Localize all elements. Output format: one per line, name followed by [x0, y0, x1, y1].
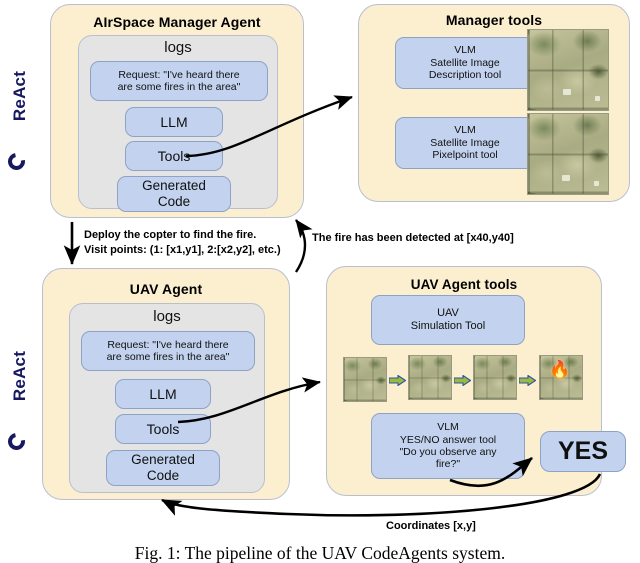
fire-icon: 🔥	[549, 361, 570, 378]
manager-llm-node[interactable]: LLM	[125, 107, 223, 137]
manager-satellite-thumbnail-1	[527, 29, 609, 111]
vlm-description-line-3: Description tool	[429, 69, 501, 81]
deploy-annotation-line-1: Deploy the copter to find the fire.	[84, 229, 256, 241]
manager-tools-panel: Manager tools VLM Satellite Image Descri…	[358, 4, 630, 202]
react-label-uav: ReAct	[2, 340, 36, 450]
vlm-pixelpoint-line-2: Satellite Image	[430, 137, 499, 149]
uav-frame-4: 🔥	[539, 355, 583, 400]
figure-caption: Fig. 1: The pipeline of the UAV CodeAgen…	[0, 543, 640, 563]
manager-tools-title: Manager tools	[359, 12, 629, 28]
vlm-description-line-2: Satellite Image	[430, 57, 499, 69]
coordinates-annotation: Coordinates [x,y]	[386, 519, 476, 534]
deploy-annotation: Deploy the copter to find the fire. Visi…	[84, 228, 281, 258]
manager-generated-code-node[interactable]: Generated Code	[117, 176, 231, 212]
vlm-yesno-line-4: fire?"	[436, 458, 460, 470]
react-ring-icon	[5, 150, 29, 174]
uav-frame-3	[473, 355, 517, 400]
manager-logs-box: logs Request: "I've heard there are some…	[78, 35, 278, 209]
uav-logs-title: logs	[70, 308, 264, 325]
uav-simulation-tool-node[interactable]: UAV Simulation Tool	[371, 295, 525, 345]
sequence-arrow-2	[454, 375, 471, 386]
uav-tools-label: Tools	[147, 421, 180, 438]
yes-answer-label: YES	[558, 437, 608, 467]
manager-request-node[interactable]: Request: "I've heard there are some fire…	[90, 61, 268, 101]
manager-tools-node[interactable]: Tools	[125, 141, 223, 171]
react-label-text: ReAct	[10, 336, 30, 416]
airspace-manager-agent-panel: AIrSpace Manager Agent logs Request: "I'…	[50, 4, 304, 218]
uav-agent-panel: UAV Agent logs Request: "I've heard ther…	[42, 268, 290, 500]
uav-simulation-frame-sequence: 🔥	[343, 355, 587, 405]
sequence-arrow-3	[519, 375, 536, 386]
uav-llm-label: LLM	[149, 386, 176, 403]
uav-generated-line-2: Code	[147, 468, 179, 484]
react-label-text: ReAct	[10, 56, 30, 136]
uav-tools-node[interactable]: Tools	[115, 414, 211, 444]
react-ring-icon	[5, 430, 29, 454]
uav-request-line-2: are some fires in the area"	[107, 351, 230, 363]
sequence-arrow-1	[389, 375, 406, 386]
wire-uav-to-manager-detected	[296, 220, 305, 272]
vlm-description-line-1: VLM	[454, 44, 476, 56]
uav-request-node[interactable]: Request: "I've heard there are some fire…	[81, 331, 255, 371]
uav-agent-title: UAV Agent	[43, 281, 289, 297]
vlm-pixelpoint-line-1: VLM	[454, 124, 476, 136]
manager-generated-line-1: Generated	[142, 178, 206, 194]
coordinates-text: Coordinates [x,y]	[386, 520, 476, 532]
vlm-yesno-line-2: YES/NO answer tool	[400, 434, 496, 446]
deploy-annotation-line-2: Visit points: (1: [x1,y1], 2:[x2,y2], et…	[84, 244, 281, 256]
uav-logs-box: logs Request: "I've heard there are some…	[69, 303, 265, 493]
manager-llm-label: LLM	[160, 114, 187, 131]
uav-agent-tools-title: UAV Agent tools	[327, 277, 601, 292]
manager-generated-line-2: Code	[158, 194, 190, 210]
airspace-manager-agent-title: AIrSpace Manager Agent	[51, 14, 303, 30]
vlm-satellite-description-tool[interactable]: VLM Satellite Image Description tool	[395, 37, 535, 89]
vlm-satellite-pixelpoint-tool[interactable]: VLM Satellite Image Pixelpoint tool	[395, 117, 535, 169]
manager-satellite-thumbnail-2	[527, 113, 609, 195]
uav-frame-2	[408, 355, 452, 400]
uav-generated-code-node[interactable]: Generated Code	[106, 450, 220, 486]
fire-detected-text: The fire has been detected at [x40,y40]	[312, 232, 514, 244]
vlm-yesno-answer-tool-node[interactable]: VLM YES/NO answer tool "Do you observe a…	[371, 413, 525, 479]
manager-request-line-2: are some fires in the area"	[118, 81, 241, 93]
uav-llm-node[interactable]: LLM	[115, 379, 211, 409]
uav-sim-line-2: Simulation Tool	[411, 320, 485, 333]
vlm-pixelpoint-line-3: Pixelpoint tool	[432, 149, 497, 161]
figure-root: ReAct ReAct AIrSpace Manager Agent logs …	[0, 0, 640, 563]
yes-answer-badge[interactable]: YES	[540, 431, 626, 472]
manager-tools-label: Tools	[158, 148, 191, 165]
vlm-yesno-line-1: VLM	[437, 421, 459, 433]
react-label-manager: ReAct	[2, 60, 36, 170]
manager-logs-title: logs	[79, 39, 277, 56]
fire-detected-annotation: The fire has been detected at [x40,y40]	[312, 231, 514, 246]
uav-request-line-1: Request: "I've heard there	[107, 339, 228, 351]
manager-request-line-1: Request: "I've heard there	[118, 69, 239, 81]
uav-generated-line-1: Generated	[131, 452, 195, 468]
vlm-yesno-line-3: "Do you observe any	[399, 446, 496, 458]
uav-sim-line-1: UAV	[437, 307, 459, 320]
uav-frame-1	[343, 357, 387, 402]
